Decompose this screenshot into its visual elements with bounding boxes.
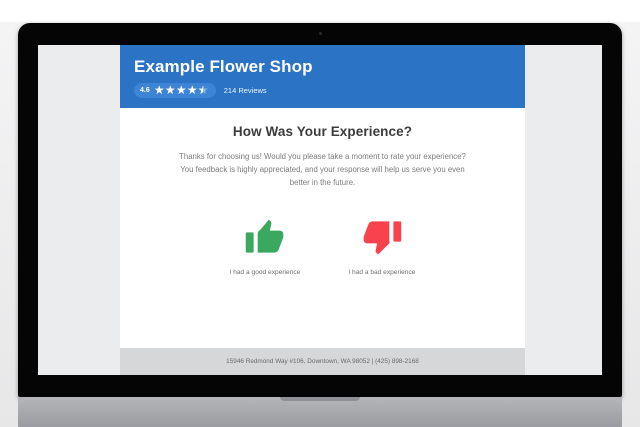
bad-experience-button[interactable]: I had a bad experience — [348, 215, 415, 277]
laptop-mockup-scene: Example Flower Shop 4.6 ★ ★ ★ ★ ★ 214 Re… — [0, 0, 640, 427]
star-icon: ★ — [154, 85, 165, 96]
card-header: Example Flower Shop 4.6 ★ ★ ★ ★ ★ 214 Re… — [120, 45, 525, 108]
star-icon: ★ — [165, 85, 176, 96]
thumbs-up-icon[interactable] — [243, 215, 287, 259]
feedback-choices: I had a good experience I had a bad expe… — [156, 215, 489, 277]
good-experience-button[interactable]: I had a good experience — [230, 215, 301, 277]
good-experience-label: I had a good experience — [230, 268, 301, 277]
rating-badge: 4.6 ★ ★ ★ ★ ★ — [134, 83, 216, 98]
rating-row: 4.6 ★ ★ ★ ★ ★ 214 Reviews — [134, 83, 511, 98]
reviews-count: 214 Reviews — [224, 86, 267, 96]
bad-experience-label: I had a bad experience — [348, 268, 415, 277]
footer-address: 15946 Redmond Way #106, Downtown, WA 980… — [226, 357, 419, 366]
thumbs-down-icon[interactable] — [360, 215, 404, 259]
rating-score: 4.6 — [140, 86, 150, 95]
laptop-base — [18, 397, 622, 427]
experience-heading: How Was Your Experience? — [156, 124, 489, 139]
star-icon: ★ — [187, 85, 198, 96]
webcam-icon — [319, 32, 322, 35]
experience-description: Thanks for choosing us! Would you please… — [177, 150, 469, 189]
star-icon: ★ — [176, 85, 187, 96]
review-request-card: Example Flower Shop 4.6 ★ ★ ★ ★ ★ 214 Re… — [120, 45, 525, 375]
shop-title: Example Flower Shop — [134, 57, 511, 77]
card-body: How Was Your Experience? Thanks for choo… — [120, 108, 525, 348]
star-half-icon: ★ — [198, 85, 209, 96]
card-footer: 15946 Redmond Way #106, Downtown, WA 980… — [120, 348, 525, 375]
star-rating: ★ ★ ★ ★ ★ — [154, 85, 209, 96]
laptop-screen: Example Flower Shop 4.6 ★ ★ ★ ★ ★ 214 Re… — [38, 45, 602, 375]
